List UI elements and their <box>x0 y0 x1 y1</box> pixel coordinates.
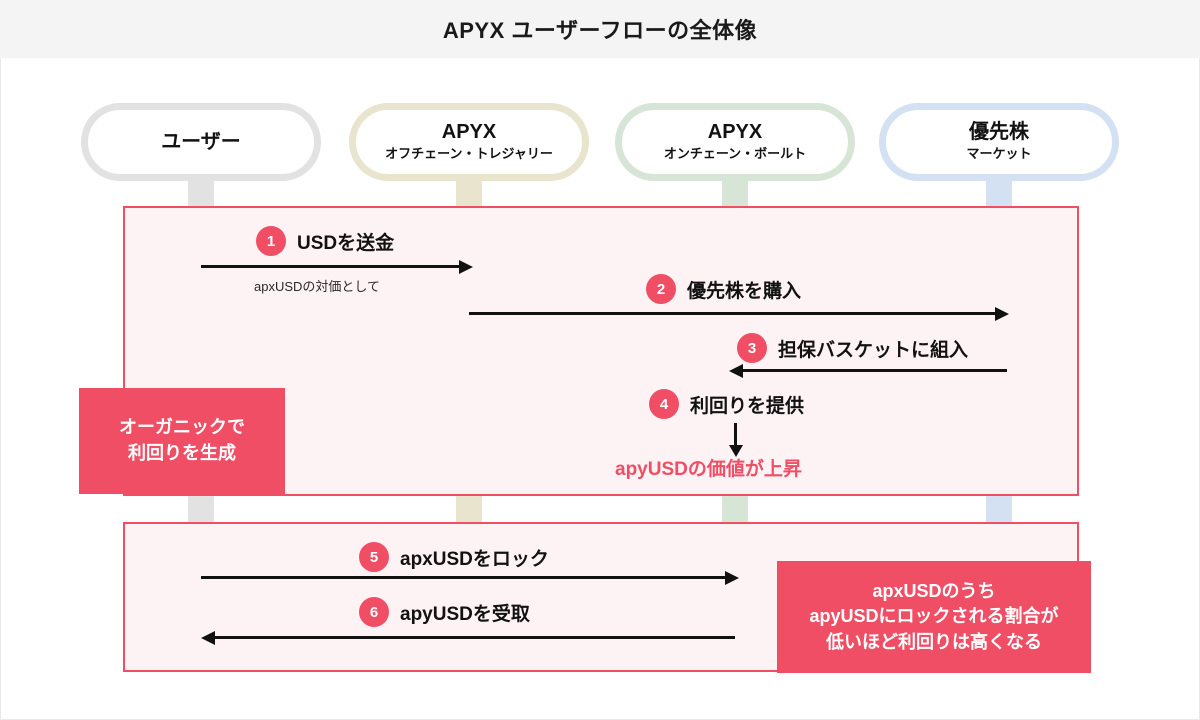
step-4-badge: 4 <box>649 389 679 419</box>
step-4: 4 利回りを提供 <box>649 389 804 419</box>
emphasis-apyusd-value-rise: apyUSDの価値が上昇 <box>615 454 802 481</box>
arrow-step-5 <box>201 576 725 579</box>
callout-organic-yield: オーガニックで 利回りを生成 <box>79 388 285 494</box>
page-title: APYX ユーザーフローの全体像 <box>443 13 757 45</box>
callout-right-line-2: apyUSDにロックされる割合が <box>809 604 1058 630</box>
actor-user[interactable]: ユーザー <box>81 103 321 181</box>
step-4-label: 利回りを提供 <box>690 391 804 418</box>
callout-lock-ratio-yield: apxUSDのうち apyUSDにロックされる割合が 低いほど利回りは高くなる <box>777 561 1091 673</box>
step-2-label: 優先株を購入 <box>687 276 801 303</box>
step-3-badge: 3 <box>737 333 767 363</box>
actor-offchain-title: APYX <box>442 121 496 144</box>
arrow-step-6 <box>215 636 735 639</box>
step-1-badge: 1 <box>256 226 286 256</box>
step-6-badge: 6 <box>359 597 389 627</box>
diagram-canvas: ユーザー APYX オフチェーン・トレジャリー APYX オンチェーン・ボールト… <box>0 58 1200 720</box>
actor-offchain-treasury[interactable]: APYX オフチェーン・トレジャリー <box>349 103 589 181</box>
diagram-page: APYX ユーザーフローの全体像 ユーザー APYX オフチェーン・トレジャリー… <box>0 0 1200 720</box>
step-1-sublabel: apxUSDの対価として <box>254 276 380 295</box>
step-6-label: apyUSDを受取 <box>400 599 530 626</box>
step-2: 2 優先株を購入 <box>646 274 801 304</box>
arrow-step-3 <box>743 369 1007 372</box>
arrow-step-1-head <box>459 260 473 274</box>
actor-onchain-vault[interactable]: APYX オンチェーン・ボールト <box>615 103 855 181</box>
arrow-step-6-head <box>201 631 215 645</box>
arrow-step-2 <box>469 312 995 315</box>
step-3: 3 担保バスケットに組入 <box>737 333 968 363</box>
callout-left-line-2: 利回りを生成 <box>128 441 236 467</box>
callout-right-line-3: 低いほど利回りは高くなる <box>826 630 1042 656</box>
actor-market-sub: マーケット <box>966 146 1031 163</box>
actor-onchain-title: APYX <box>708 121 762 144</box>
actor-onchain-sub: オンチェーン・ボールト <box>664 146 806 163</box>
step-6: 6 apyUSDを受取 <box>359 597 530 627</box>
step-3-label: 担保バスケットに組入 <box>778 335 968 362</box>
callout-left-line-1: オーガニックで <box>119 415 245 441</box>
arrow-step-3-head <box>729 364 743 378</box>
actor-market-title: 優先株 <box>969 121 1029 144</box>
arrow-step-2-head <box>995 307 1009 321</box>
actor-offchain-sub: オフチェーン・トレジャリー <box>385 146 553 163</box>
arrow-step-1 <box>201 265 459 268</box>
actor-preferred-stock-market[interactable]: 優先株 マーケット <box>879 103 1119 181</box>
arrow-step-5-head <box>725 571 739 585</box>
step-1: 1 USDを送金 <box>256 226 394 256</box>
actor-user-title: ユーザー <box>161 131 241 154</box>
step-5-badge: 5 <box>359 542 389 572</box>
step-2-badge: 2 <box>646 274 676 304</box>
step-1-label: USDを送金 <box>297 228 394 255</box>
step-5-label: apxUSDをロック <box>400 544 549 571</box>
callout-right-line-1: apxUSDのうち <box>872 579 995 605</box>
arrow-step-4 <box>734 423 737 445</box>
step-5: 5 apxUSDをロック <box>359 542 549 572</box>
header-band: APYX ユーザーフローの全体像 <box>0 0 1200 58</box>
